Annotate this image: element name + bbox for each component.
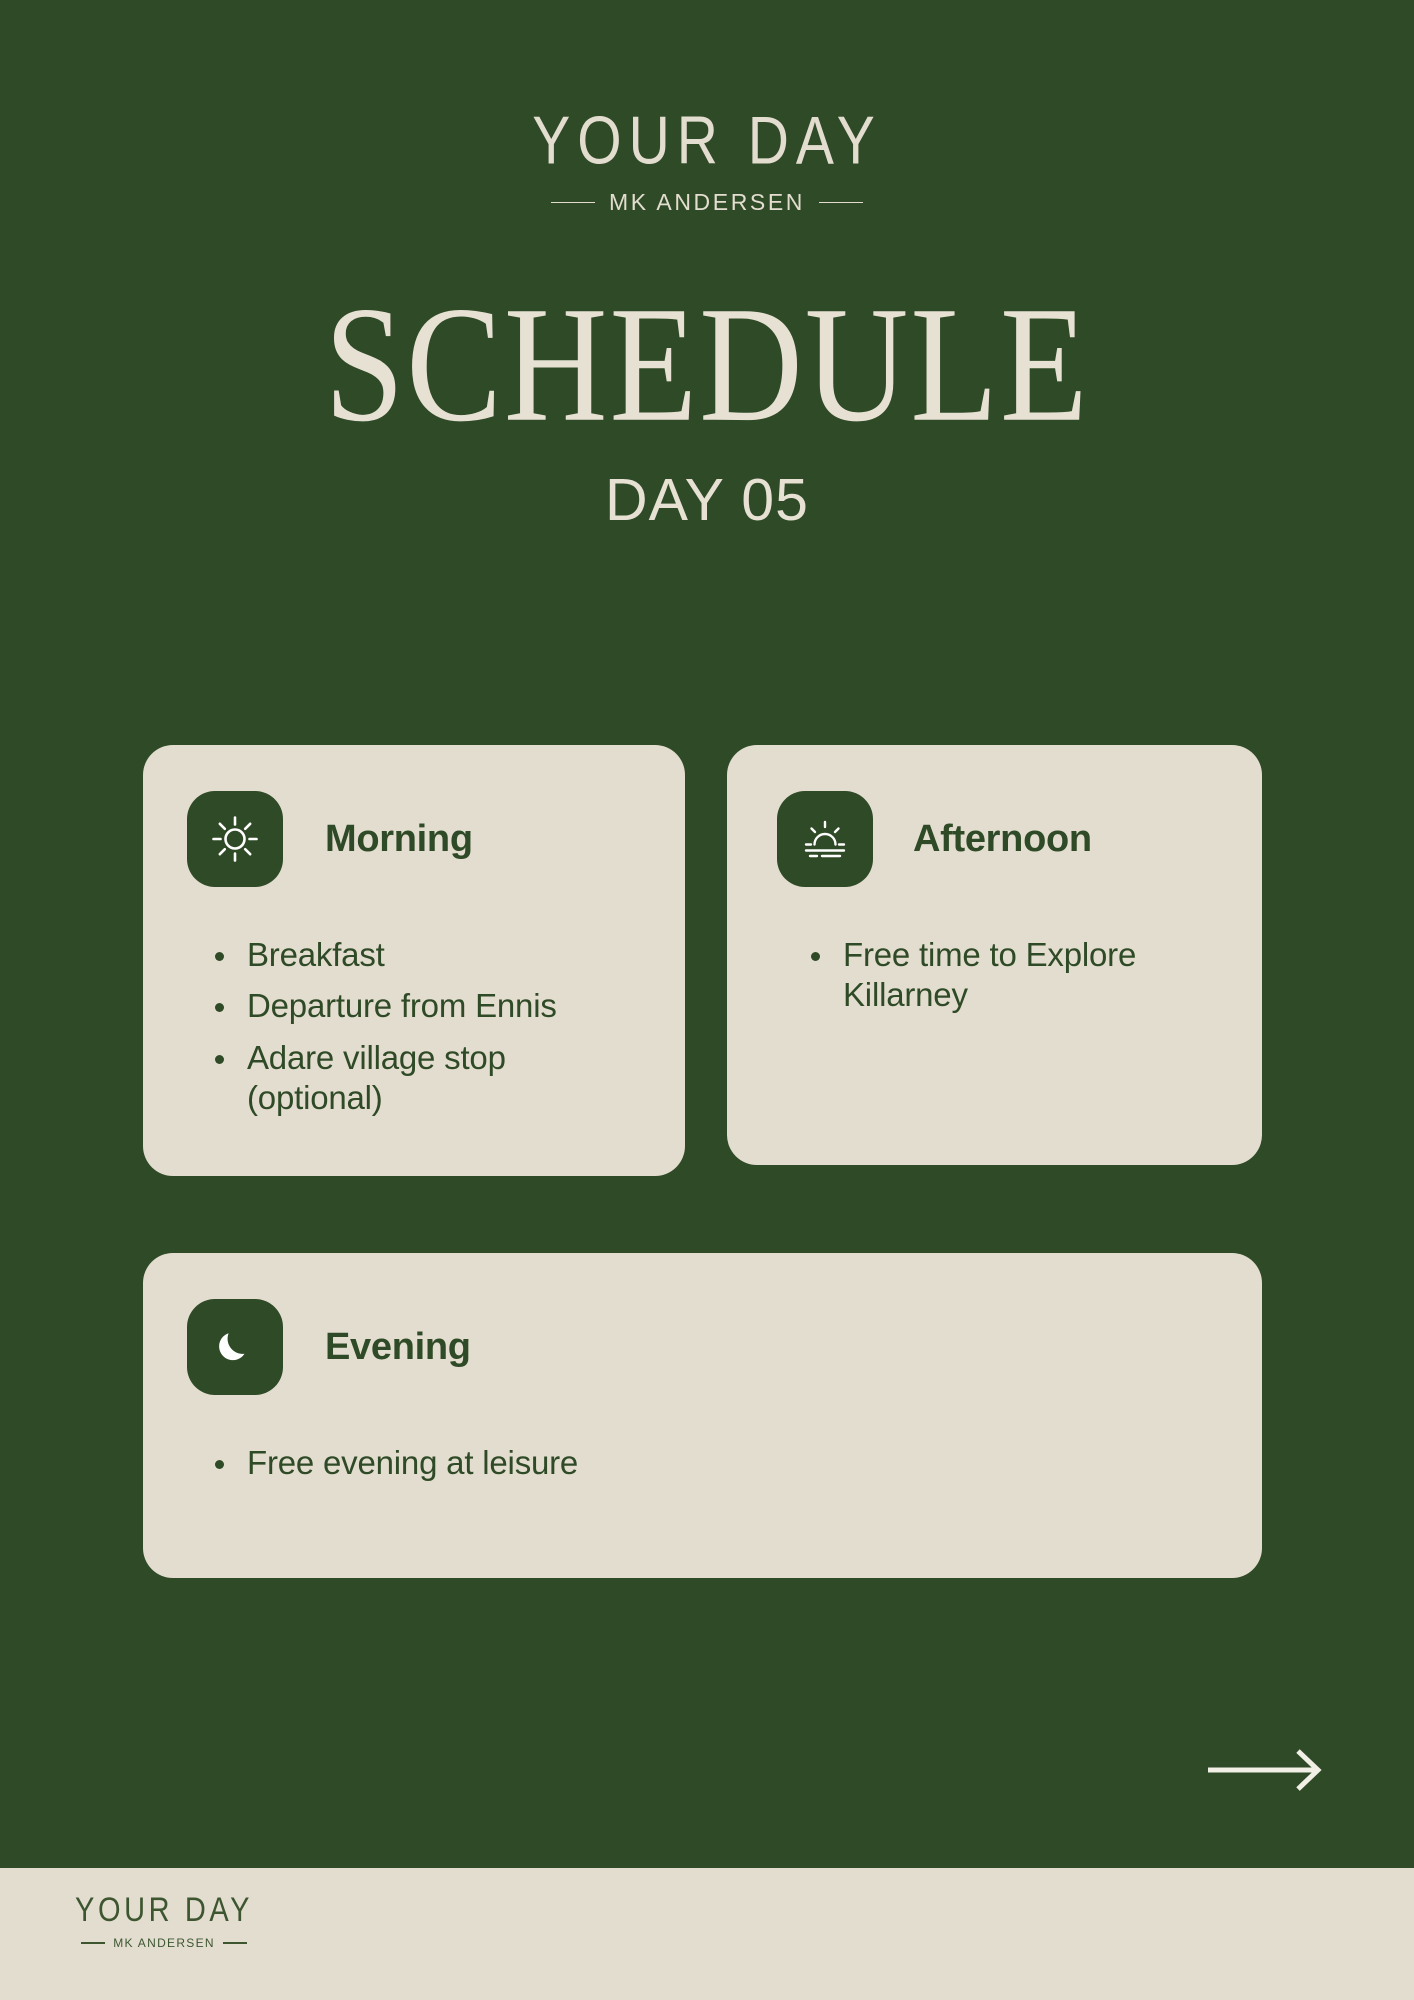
brand-name: YOUR DAY [0, 108, 1414, 175]
brand-rule-right [819, 202, 863, 204]
card-title-evening: Evening [325, 1326, 471, 1369]
footer-rule-right [223, 1942, 247, 1943]
card-body-afternoon: Free time to Explore Killarney [727, 887, 1262, 1016]
sun-icon [187, 791, 283, 887]
schedule-card-afternoon: Afternoon Free time to Explore Killarney [727, 745, 1262, 1165]
footer-brand-subtitle: MK ANDERSEN [113, 1936, 215, 1950]
schedule-card-evening: Evening Free evening at leisure [143, 1253, 1262, 1578]
card-list-evening: Free evening at leisure [211, 1443, 1222, 1483]
brand-subtitle-row: MK ANDERSEN [0, 189, 1414, 216]
card-body-evening: Free evening at leisure [143, 1395, 1262, 1483]
schedule-card-morning: Morning Breakfast Departure from Ennis A… [143, 745, 685, 1176]
card-header-evening: Evening [143, 1253, 1262, 1395]
footer-subtitle-row: MK ANDERSEN [75, 1936, 253, 1950]
brand-rule-left [551, 202, 595, 204]
card-header-morning: Morning [143, 745, 685, 887]
poster-page: YOUR DAY MK ANDERSEN SCHEDULE DAY 05 [0, 0, 1414, 2000]
card-list-afternoon: Free time to Explore Killarney [807, 935, 1222, 1016]
card-header-afternoon: Afternoon [727, 745, 1262, 887]
page-title: SCHEDULE [21, 282, 1393, 448]
card-title-morning: Morning [325, 818, 473, 861]
card-list-morning: Breakfast Departure from Ennis Adare vil… [211, 935, 645, 1118]
list-item: Breakfast [211, 935, 645, 975]
list-item: Departure from Ennis [211, 986, 645, 1026]
card-body-morning: Breakfast Departure from Ennis Adare vil… [143, 887, 685, 1118]
footer-rule-left [81, 1942, 105, 1943]
brand-subtitle: MK ANDERSEN [609, 189, 805, 216]
list-item: Free time to Explore Killarney [807, 935, 1222, 1016]
brand-logo-top: YOUR DAY MK ANDERSEN [0, 108, 1414, 216]
brand-logo-footer: YOUR DAY MK ANDERSEN [75, 1894, 253, 1950]
sunset-icon [777, 791, 873, 887]
footer-bar: YOUR DAY MK ANDERSEN [0, 1868, 1414, 2000]
list-item: Adare village stop (optional) [211, 1038, 645, 1119]
footer-brand-name: YOUR DAY [75, 1894, 253, 1928]
card-title-afternoon: Afternoon [913, 818, 1092, 861]
moon-icon [187, 1299, 283, 1395]
title-block: SCHEDULE DAY 05 [0, 282, 1414, 534]
page-subtitle: DAY 05 [0, 466, 1414, 534]
list-item: Free evening at leisure [211, 1443, 1222, 1483]
next-page-arrow-icon[interactable] [1206, 1745, 1324, 1795]
